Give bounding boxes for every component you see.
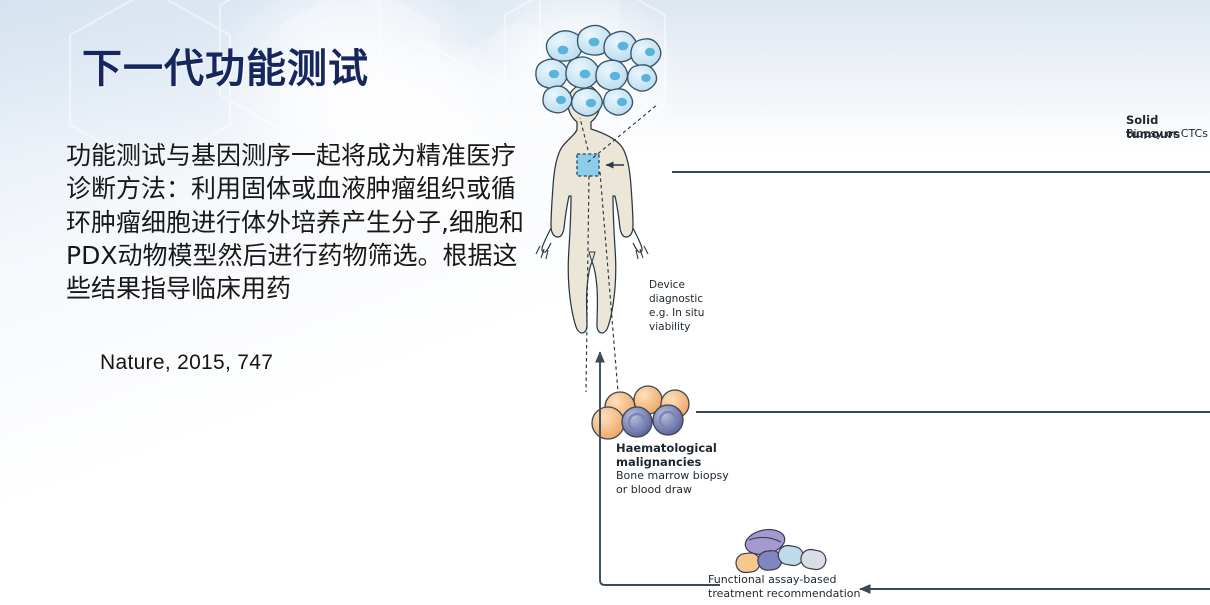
figure-artwork xyxy=(520,0,1210,605)
feedback-label-line2: treatment recommendation xyxy=(708,587,860,601)
presentation-slide: 下一代功能测试 功能测试与基因测序一起将成为精准医疗诊断方法：利用固体或血液肿瘤… xyxy=(0,0,1210,605)
haematological-label-line1: Haematological xyxy=(616,441,717,455)
device-diagnostic-line3: e.g. In situ xyxy=(649,307,704,320)
device-diagnostic-line4: viability xyxy=(649,321,690,334)
device-diagnostic-line1: Device xyxy=(649,279,685,292)
figure-next-generation-assays: Next-generation functional assays Solid … xyxy=(520,0,1210,605)
solid-tumour-cells xyxy=(536,25,661,115)
solid-tumours-sublabel: Biopsy or CTCs xyxy=(1126,127,1208,141)
page-title: 下一代功能测试 xyxy=(82,36,369,94)
haematological-cells xyxy=(592,386,689,439)
pills-illustration xyxy=(735,526,827,573)
citation-reference: Nature, 2015, 747 xyxy=(100,351,273,375)
haematological-sublabel-line1: Bone marrow biopsy xyxy=(616,469,729,483)
haematological-sublabel-line2: or blood draw xyxy=(616,483,692,497)
human-body-illustration xyxy=(536,85,648,333)
feedback-label-line1: Functional assay-based xyxy=(708,573,837,587)
slide-body-text: 功能测试与基因测序一起将成为精准医疗诊断方法：利用固体或血液肿瘤组织或循环肿瘤细… xyxy=(66,139,536,305)
device-diagnostic-line2: diagnostic xyxy=(649,293,703,306)
haematological-label-line2: malignancies xyxy=(616,455,701,469)
